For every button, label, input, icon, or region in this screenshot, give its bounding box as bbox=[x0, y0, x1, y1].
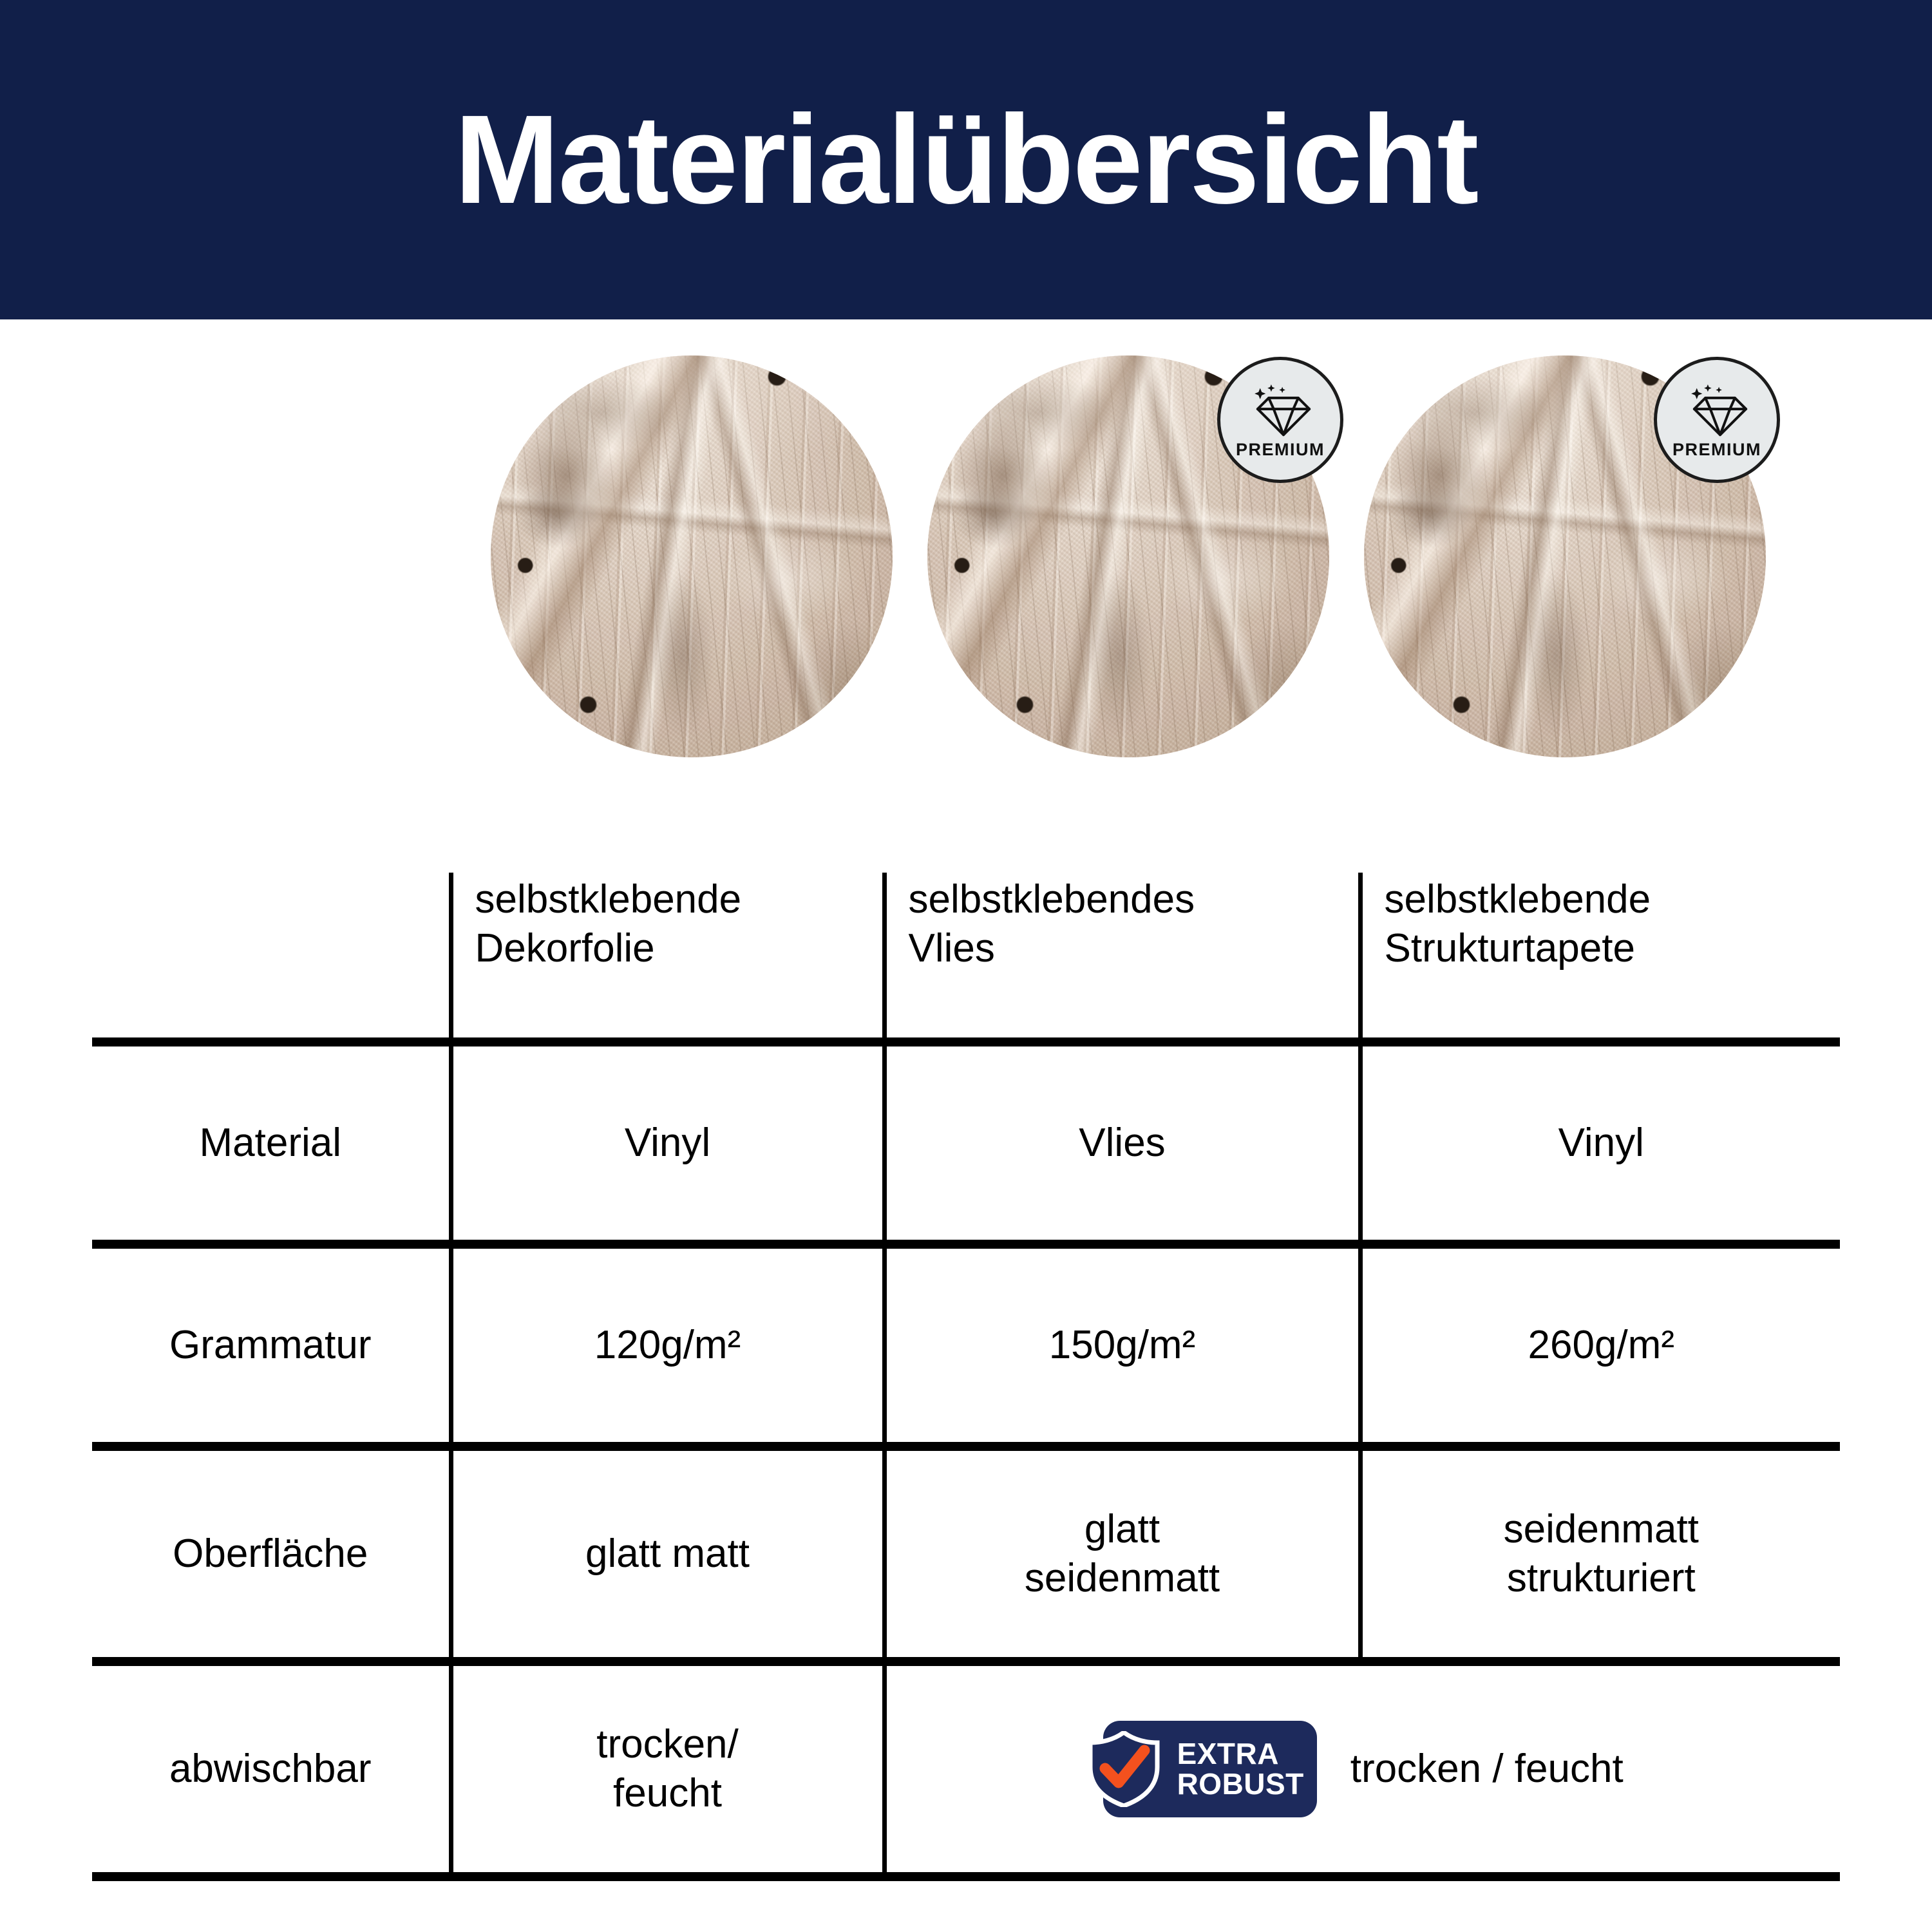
table-row-grammatur: Grammatur 120g/m² 150g/m² 260g/m² bbox=[92, 1244, 1840, 1446]
table-header-row: selbstklebende Dekorfolie selbstklebende… bbox=[92, 873, 1840, 1042]
row-label-abwischbar: abwischbar bbox=[92, 1662, 451, 1877]
header-cell-blank bbox=[92, 873, 451, 1042]
merged-value-text: trocken / feucht bbox=[1350, 1745, 1624, 1794]
premium-badge-label: PREMIUM bbox=[1236, 440, 1325, 460]
cell-oberflaeche-dekorfolie: glatt matt bbox=[451, 1446, 884, 1662]
robust-label-line2: ROBUST bbox=[1177, 1769, 1304, 1799]
premium-badge: PREMIUM bbox=[1654, 357, 1780, 483]
cell-oberflaeche-vlies: glatt seidenmatt bbox=[884, 1446, 1360, 1662]
page-title: Materialübersicht bbox=[455, 97, 1478, 223]
header-cell-dekorfolie: selbstklebende Dekorfolie bbox=[451, 873, 884, 1042]
diamond-icon bbox=[1689, 383, 1751, 437]
stone-relief-texture bbox=[491, 355, 893, 757]
product-previews: PREMIUM PREMIUM bbox=[0, 355, 1932, 768]
premium-badge-label: PREMIUM bbox=[1672, 440, 1761, 460]
header-banner: Materialübersicht bbox=[0, 0, 1932, 319]
cell-grammatur-vlies: 150g/m² bbox=[884, 1244, 1360, 1446]
cell-material-vlies: Vlies bbox=[884, 1042, 1360, 1244]
table-row-abwischbar: abwischbar trocken/ feucht EXTRA bbox=[92, 1662, 1840, 1877]
cell-abwischbar-merged: EXTRA ROBUST trocken / feucht bbox=[884, 1662, 1840, 1877]
row-label-grammatur: Grammatur bbox=[92, 1244, 451, 1446]
table-row-material: Material Vinyl Vlies Vinyl bbox=[92, 1042, 1840, 1244]
cell-oberflaeche-strukturtapete: seidenmatt strukturiert bbox=[1360, 1446, 1840, 1662]
row-label-oberflaeche: Oberfläche bbox=[92, 1446, 451, 1662]
premium-badge: PREMIUM bbox=[1217, 357, 1343, 483]
cell-abwischbar-dekorfolie: trocken/ feucht bbox=[451, 1662, 884, 1877]
product-preview-1[interactable] bbox=[491, 355, 893, 757]
cell-material-dekorfolie: Vinyl bbox=[451, 1042, 884, 1244]
shield-check-icon bbox=[1085, 1731, 1162, 1807]
preview-image-1 bbox=[491, 355, 893, 757]
robust-label-line1: EXTRA bbox=[1177, 1739, 1279, 1769]
diamond-icon bbox=[1253, 383, 1314, 437]
cell-grammatur-strukturtapete: 260g/m² bbox=[1360, 1244, 1840, 1446]
cell-material-strukturtapete: Vinyl bbox=[1360, 1042, 1840, 1244]
header-cell-strukturtapete: selbstklebende Strukturtapete bbox=[1360, 873, 1840, 1042]
product-preview-2[interactable]: PREMIUM bbox=[927, 355, 1329, 757]
material-comparison-table: selbstklebende Dekorfolie selbstklebende… bbox=[92, 873, 1840, 1881]
header-cell-vlies: selbstklebendes Vlies bbox=[884, 873, 1360, 1042]
row-label-material: Material bbox=[92, 1042, 451, 1244]
extra-robust-badge: EXTRA ROBUST bbox=[1103, 1721, 1317, 1817]
product-preview-3[interactable]: PREMIUM bbox=[1364, 355, 1766, 757]
cell-grammatur-dekorfolie: 120g/m² bbox=[451, 1244, 884, 1446]
table-row-oberflaeche: Oberfläche glatt matt glatt seidenmatt s… bbox=[92, 1446, 1840, 1662]
